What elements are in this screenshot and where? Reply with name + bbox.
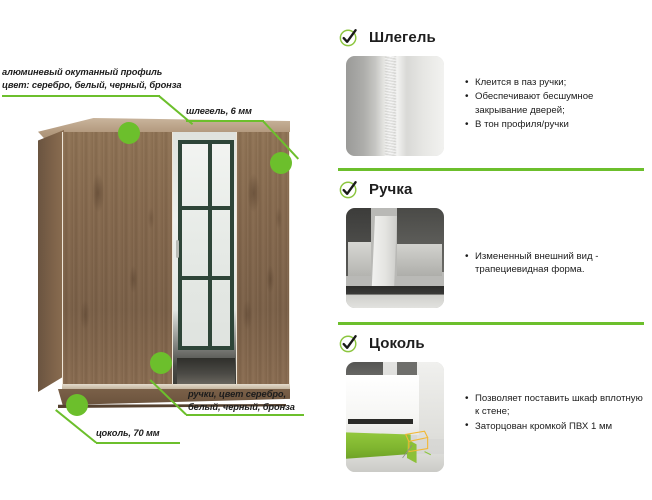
feature-bullets-tsokol: Позволяет поставить шкаф вплотную к стен… bbox=[464, 392, 648, 434]
wardrobe-door-left bbox=[62, 132, 174, 386]
callout-plinth-rule bbox=[96, 442, 180, 444]
bullet-item: Позволяет поставить шкаф вплотную к стен… bbox=[464, 392, 648, 419]
check-circle-icon bbox=[338, 332, 360, 354]
callout-shlegel-dot bbox=[270, 152, 292, 174]
feature-header-tsokol: Цоколь bbox=[338, 332, 425, 354]
feature-bullets-shlegel: Клеится в паз ручки; Обеспечивают бесшум… bbox=[464, 76, 648, 133]
thumb-ruchka-panel-left bbox=[348, 242, 372, 276]
thumb-shlegel-brush-seal bbox=[385, 56, 396, 156]
bullet-item: В тон профиля/ручки bbox=[464, 118, 648, 131]
reflected-floor bbox=[177, 358, 235, 386]
thumb-ruchka-trapezoid-handle bbox=[371, 216, 396, 294]
callout-handles-label: ручки, цвет серебро, белый, черный, брон… bbox=[188, 388, 318, 413]
door-handle-profile bbox=[176, 240, 179, 258]
bullet-item: Заторцован кромкой ПВХ 1 мм bbox=[464, 420, 648, 433]
thumb-ruchka-panel-right bbox=[397, 244, 442, 276]
callout-profile-rule bbox=[2, 95, 160, 97]
feature-header-shlegel: Шлегель bbox=[338, 26, 436, 48]
callout-handles-rule bbox=[186, 414, 304, 416]
thumb-tsokol-callout-outline bbox=[401, 424, 432, 464]
section-divider-1 bbox=[338, 168, 644, 171]
feature-bullets-ruchka: Измененный внешний вид - трапециевидная … bbox=[464, 250, 648, 278]
wardrobe-door-mirror bbox=[172, 132, 238, 386]
feature-title-tsokol: Цоколь bbox=[369, 335, 425, 352]
reflected-window-frame bbox=[178, 140, 234, 350]
callout-shlegel-label: шлегель, 6 мм bbox=[186, 105, 306, 118]
callout-profile-dot bbox=[118, 122, 140, 144]
wardrobe-door-area bbox=[62, 132, 290, 386]
features-panel: Шлегель Клеится в паз ручки; Обеспечиваю… bbox=[330, 0, 652, 500]
callout-handles-dot bbox=[150, 352, 172, 374]
callout-plinth-dot bbox=[66, 394, 88, 416]
feature-thumbnail-tsokol bbox=[346, 362, 444, 472]
section-divider-2 bbox=[338, 322, 644, 325]
bullet-item: Измененный внешний вид - трапециевидная … bbox=[464, 250, 648, 277]
window-mullion-horizontal-2 bbox=[182, 276, 230, 280]
callout-profile-label: алюминевый окутанный профиль цвет: сереб… bbox=[2, 66, 182, 91]
feature-header-ruchka: Ручка bbox=[338, 178, 412, 200]
feature-section-shlegel: Шлегель Клеится в паз ручки; Обеспечиваю… bbox=[330, 20, 652, 170]
thumb-ruchka-floor bbox=[346, 286, 444, 308]
window-mullion-vertical bbox=[208, 144, 212, 346]
callout-shlegel-rule bbox=[186, 120, 264, 122]
check-circle-icon bbox=[338, 178, 360, 200]
feature-title-shlegel: Шлегель bbox=[369, 29, 436, 46]
check-circle-icon bbox=[338, 26, 360, 48]
bullet-item: Клеится в паз ручки; bbox=[464, 76, 648, 89]
wardrobe-diagram-panel: алюминевый окутанный профиль цвет: сереб… bbox=[0, 0, 330, 500]
wardrobe-side-panel bbox=[38, 130, 64, 392]
infographic-page: алюминевый окутанный профиль цвет: сереб… bbox=[0, 0, 652, 500]
feature-section-ruchka: Ручка Измененный внешний вид - трапециев… bbox=[330, 172, 652, 322]
feature-title-ruchka: Ручка bbox=[369, 181, 412, 198]
window-mullion-horizontal-1 bbox=[182, 206, 230, 210]
bullet-item: Обеспечивают бесшумное закрывание дверей… bbox=[464, 90, 648, 117]
callout-plinth-label: цоколь, 70 мм bbox=[96, 427, 206, 440]
feature-thumbnail-shlegel bbox=[346, 56, 444, 156]
feature-thumbnail-ruchka bbox=[346, 208, 444, 308]
feature-section-tsokol: Цоколь Позволяет по bbox=[330, 326, 652, 486]
